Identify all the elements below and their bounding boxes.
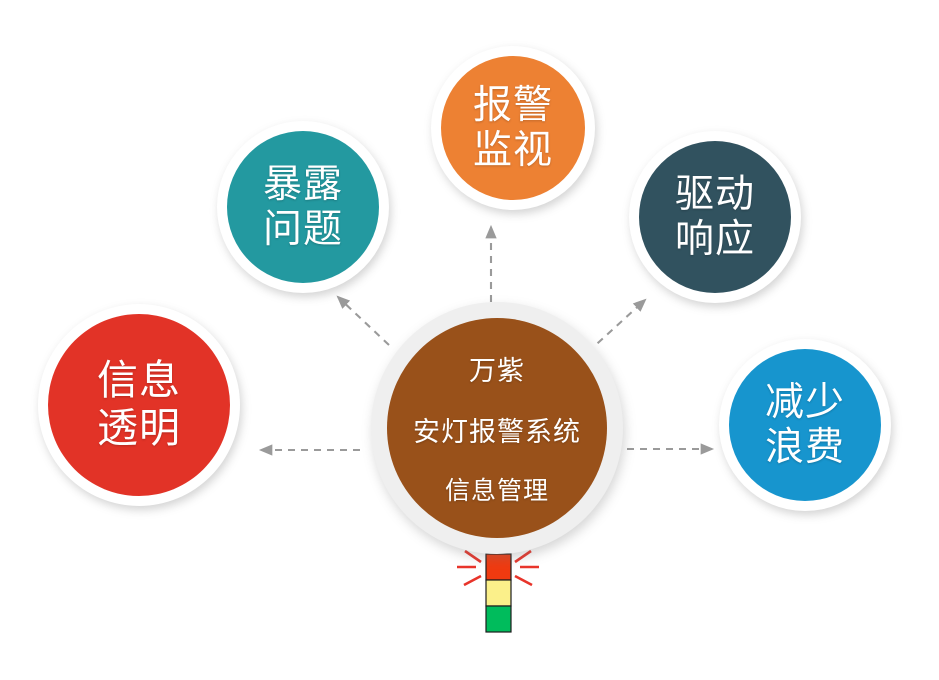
node-reduce-waste[interactable]: 减少 浪费	[719, 339, 891, 511]
node-alarm-monitor[interactable]: 报警 监视	[431, 46, 595, 210]
center-hub-line3: 信息管理	[445, 471, 549, 507]
diagram-canvas: 万紫 安灯报警系统 信息管理 报警 监视 暴露 问题 驱动 响应 信息 透明	[0, 0, 939, 680]
node-alarm-monitor-line1: 报警	[473, 83, 553, 128]
node-drive-response[interactable]: 驱动 响应	[629, 131, 801, 303]
node-expose-problem-label: 暴露 问题	[263, 162, 343, 252]
node-drive-response-line2: 响应	[675, 217, 755, 262]
center-hub-line2: 安灯报警系统	[413, 410, 581, 449]
node-reduce-waste-line2: 浪费	[765, 425, 845, 470]
node-info-transparent-line1: 信息	[97, 357, 181, 405]
center-hub-disc: 万紫 安灯报警系统 信息管理	[387, 318, 607, 538]
green-lamp	[486, 606, 511, 632]
node-alarm-monitor-line2: 监视	[473, 128, 553, 173]
andon-light-tower	[443, 545, 553, 650]
center-hub-line1: 万紫	[469, 349, 525, 388]
center-hub[interactable]: 万紫 安灯报警系统 信息管理	[371, 302, 623, 554]
node-drive-response-line1: 驱动	[675, 172, 755, 217]
node-alarm-monitor-label: 报警 监视	[473, 83, 553, 173]
yellow-lamp	[486, 580, 511, 606]
node-info-transparent-label: 信息 透明	[97, 357, 181, 452]
node-reduce-waste-line1: 减少	[765, 380, 845, 425]
node-expose-problem-line2: 问题	[263, 207, 343, 252]
node-info-transparent[interactable]: 信息 透明	[38, 304, 240, 506]
node-info-transparent-line2: 透明	[97, 405, 181, 453]
node-drive-response-label: 驱动 响应	[675, 172, 755, 262]
node-reduce-waste-label: 减少 浪费	[765, 380, 845, 470]
red-lamp	[486, 554, 511, 580]
node-expose-problem[interactable]: 暴露 问题	[217, 121, 389, 293]
connector-up-left	[338, 297, 389, 345]
connector-up-right	[588, 300, 645, 352]
node-expose-problem-line1: 暴露	[263, 162, 343, 207]
